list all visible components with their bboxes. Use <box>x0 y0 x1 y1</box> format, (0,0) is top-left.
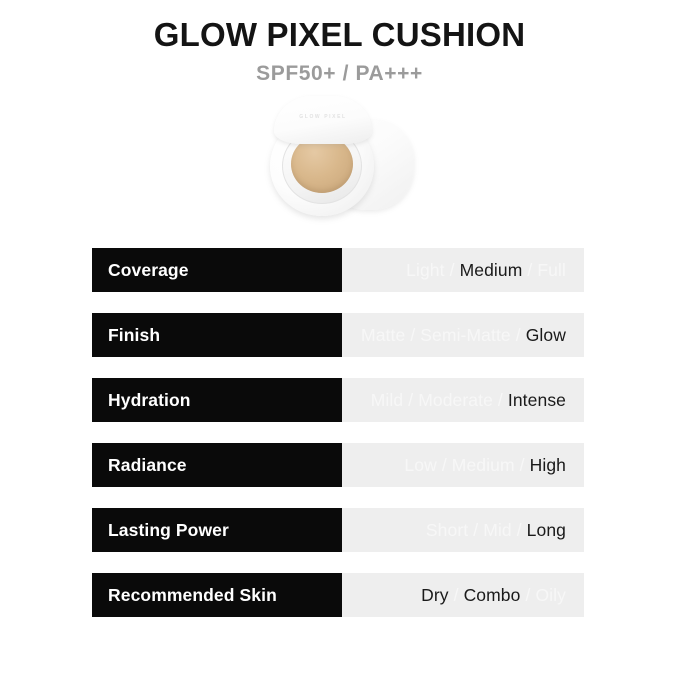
spec-option-selected[interactable]: Glow <box>526 325 566 346</box>
option-separator: / <box>515 455 530 476</box>
spec-option[interactable]: Full <box>537 260 566 281</box>
option-separator: / <box>468 520 483 541</box>
product-header: GLOW PIXEL CUSHION SPF50+ / PA+++ <box>0 0 679 86</box>
spec-label-text: Finish <box>108 325 160 346</box>
spec-option[interactable]: Medium <box>452 455 515 476</box>
spec-values-recommended-skin: Dry / Combo / Oily <box>342 573 584 617</box>
product-image-area: GLOW PIXEL <box>0 94 679 222</box>
spec-option[interactable]: Moderate <box>418 390 493 411</box>
spec-label-coverage: Coverage <box>92 248 342 292</box>
spec-option[interactable]: Light <box>406 260 444 281</box>
spec-values-lasting-power: Short / Mid / Long <box>342 508 584 552</box>
table-row: Recommended Skin Dry / Combo / Oily <box>92 573 584 617</box>
spec-option[interactable]: Oily <box>535 585 566 606</box>
spec-values-radiance: Low / Medium / High <box>342 443 584 487</box>
spec-option-selected[interactable]: Dry <box>421 585 449 606</box>
option-separator: / <box>511 325 526 346</box>
cushion-compact-image: GLOW PIXEL <box>262 94 422 222</box>
spec-label-hydration: Hydration <box>92 378 342 422</box>
option-separator: / <box>522 260 537 281</box>
spec-label-text: Coverage <box>108 260 189 281</box>
table-row: Radiance Low / Medium / High <box>92 443 584 487</box>
option-separator: / <box>449 585 464 606</box>
spec-values-finish: Matte / Semi-Matte / Glow <box>342 313 584 357</box>
spec-option-selected[interactable]: Long <box>527 520 566 541</box>
spec-option-selected[interactable]: Intense <box>508 390 566 411</box>
spec-label-radiance: Radiance <box>92 443 342 487</box>
spec-values-coverage: Light / Medium / Full <box>342 248 584 292</box>
spec-option[interactable]: Short <box>426 520 468 541</box>
spec-label-text: Lasting Power <box>108 520 229 541</box>
spec-label-text: Radiance <box>108 455 187 476</box>
option-separator: / <box>493 390 508 411</box>
page-title: GLOW PIXEL CUSHION <box>0 16 679 55</box>
spec-label-text: Recommended Skin <box>108 585 277 606</box>
spec-option[interactable]: Matte <box>361 325 405 346</box>
option-separator: / <box>512 520 527 541</box>
spec-option-selected[interactable]: High <box>530 455 566 476</box>
product-subtitle: SPF50+ / PA+++ <box>0 61 679 86</box>
table-row: Finish Matte / Semi-Matte / Glow <box>92 313 584 357</box>
spec-label-finish: Finish <box>92 313 342 357</box>
spec-label-recommended-skin: Recommended Skin <box>92 573 342 617</box>
table-row: Lasting Power Short / Mid / Long <box>92 508 584 552</box>
spec-option[interactable]: Low <box>404 455 436 476</box>
spec-option[interactable]: Semi-Matte <box>420 325 510 346</box>
spec-label-text: Hydration <box>108 390 191 411</box>
compact-lid: GLOW PIXEL <box>274 96 372 144</box>
option-separator: / <box>405 325 420 346</box>
spec-option-selected[interactable]: Combo <box>464 585 521 606</box>
option-separator: / <box>445 260 460 281</box>
lid-brand-text: GLOW PIXEL <box>274 114 372 120</box>
table-row: Hydration Mild / Moderate / Intense <box>92 378 584 422</box>
option-separator: / <box>437 455 452 476</box>
spec-table: Coverage Light / Medium / Full Finish Ma… <box>92 248 584 617</box>
spec-option[interactable]: Mid <box>483 520 512 541</box>
option-separator: / <box>520 585 535 606</box>
spec-option-selected[interactable]: Medium <box>460 260 523 281</box>
option-separator: / <box>403 390 418 411</box>
spec-values-hydration: Mild / Moderate / Intense <box>342 378 584 422</box>
spec-option[interactable]: Mild <box>371 390 404 411</box>
spec-label-lasting-power: Lasting Power <box>92 508 342 552</box>
table-row: Coverage Light / Medium / Full <box>92 248 584 292</box>
